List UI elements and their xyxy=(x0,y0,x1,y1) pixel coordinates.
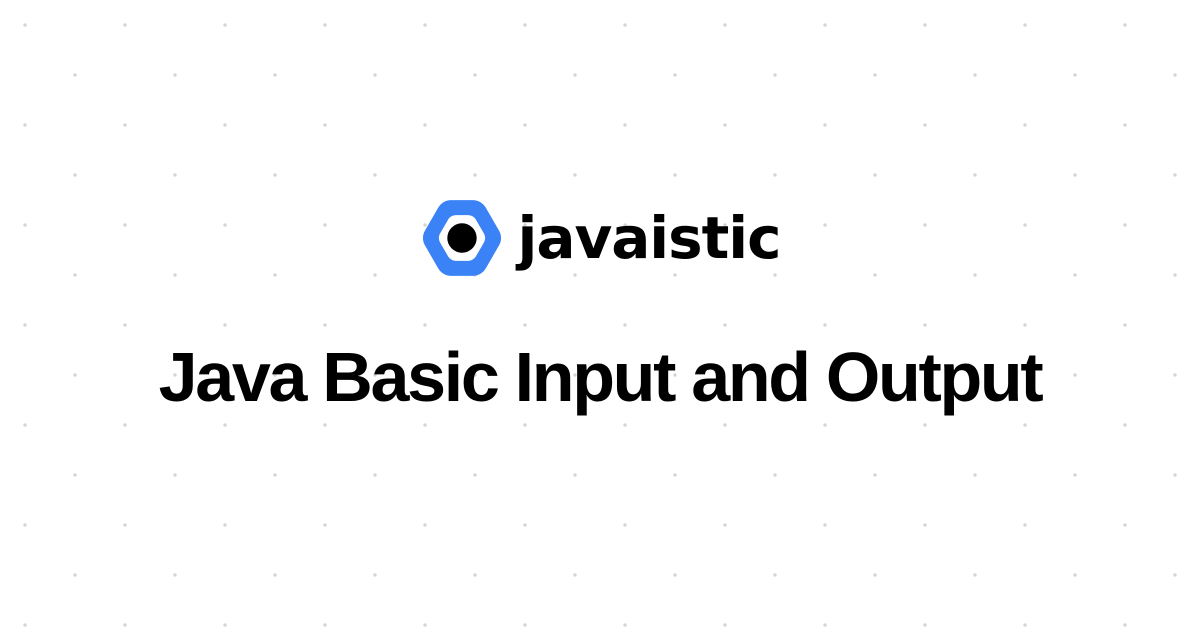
page-title: Java Basic Input and Output xyxy=(159,340,1042,416)
javaistic-hexagon-logo-icon xyxy=(420,196,504,280)
brand-name: javaistic xyxy=(518,209,781,267)
card-content: javaistic Java Basic Input and Output xyxy=(0,0,1200,630)
og-card: javaistic Java Basic Input and Output xyxy=(0,0,1200,630)
brand-lockup: javaistic xyxy=(420,196,781,280)
